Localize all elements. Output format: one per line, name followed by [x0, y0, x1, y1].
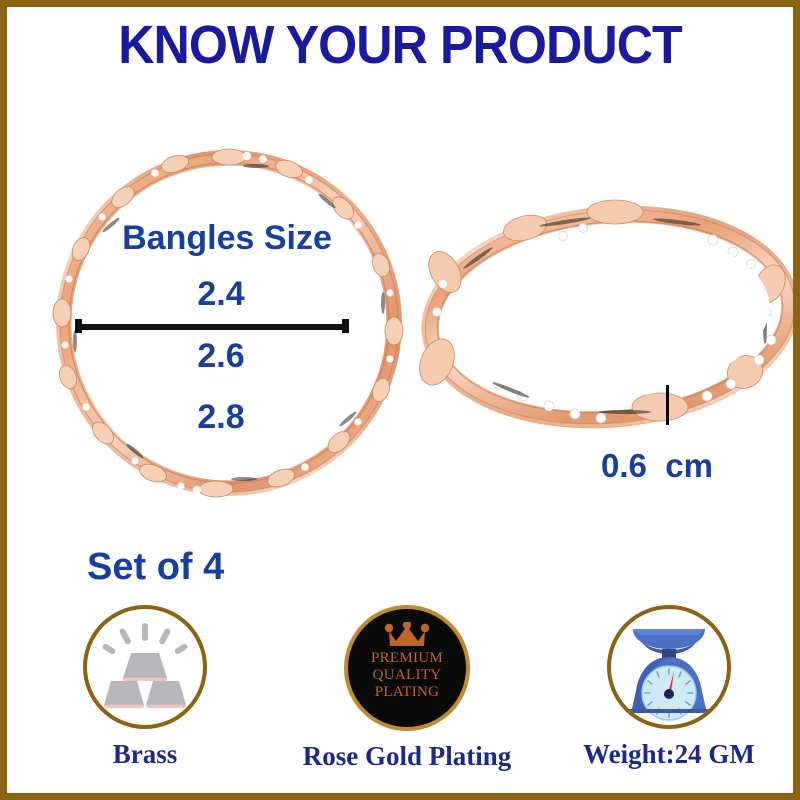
- band-width-tick: [666, 385, 669, 425]
- bangle-angled-svg: [415, 192, 800, 447]
- crown-icon: [384, 622, 430, 648]
- feature-weight: Weight:24 GM: [554, 605, 784, 770]
- seal-line-3: PLATING: [375, 684, 440, 701]
- bangle-angled-view-photo: [415, 192, 800, 447]
- brass-badge-circle: [83, 605, 207, 729]
- premium-quality-seal: PREMIUM QUALITY PLATING: [344, 605, 470, 731]
- bangle-size-option-3: 2.8: [61, 398, 381, 436]
- weight-badge-circle: [607, 605, 731, 729]
- seal-line-2: QUALITY: [373, 667, 442, 684]
- feature-brass-label: Brass: [113, 738, 178, 770]
- crown-icon-wrap: [384, 622, 430, 648]
- measure-cap-right: [342, 319, 349, 333]
- set-quantity-label: Set of 4: [87, 545, 224, 589]
- seal-line-1: PREMIUM: [371, 650, 443, 667]
- feature-weight-label: Weight:24 GM: [583, 738, 755, 770]
- brass-ingots-icon: [87, 609, 203, 725]
- feature-brass: Brass: [30, 605, 260, 770]
- bangle-size-option-2: 2.6: [61, 337, 381, 375]
- diameter-measure-bar: [75, 319, 349, 333]
- bangle-size-option-1: 2.4: [61, 275, 381, 313]
- measure-shaft: [75, 324, 349, 330]
- page-title: KNOW YOUR PRODUCT: [35, 15, 766, 75]
- infographic-page: KNOW YOUR PRODUCT: [0, 0, 800, 800]
- feature-plating-label: Rose Gold Plating: [303, 740, 512, 772]
- feature-badges-row: Brass PREMIUM QUALITY PLATING Rose Gold …: [14, 605, 800, 800]
- bangles-size-heading: Bangles Size: [67, 218, 387, 258]
- band-width-label: 0.6 cm: [507, 447, 800, 485]
- feature-plating: PREMIUM QUALITY PLATING Rose Gold Platin…: [292, 605, 522, 772]
- weighing-scale-icon: [611, 609, 727, 725]
